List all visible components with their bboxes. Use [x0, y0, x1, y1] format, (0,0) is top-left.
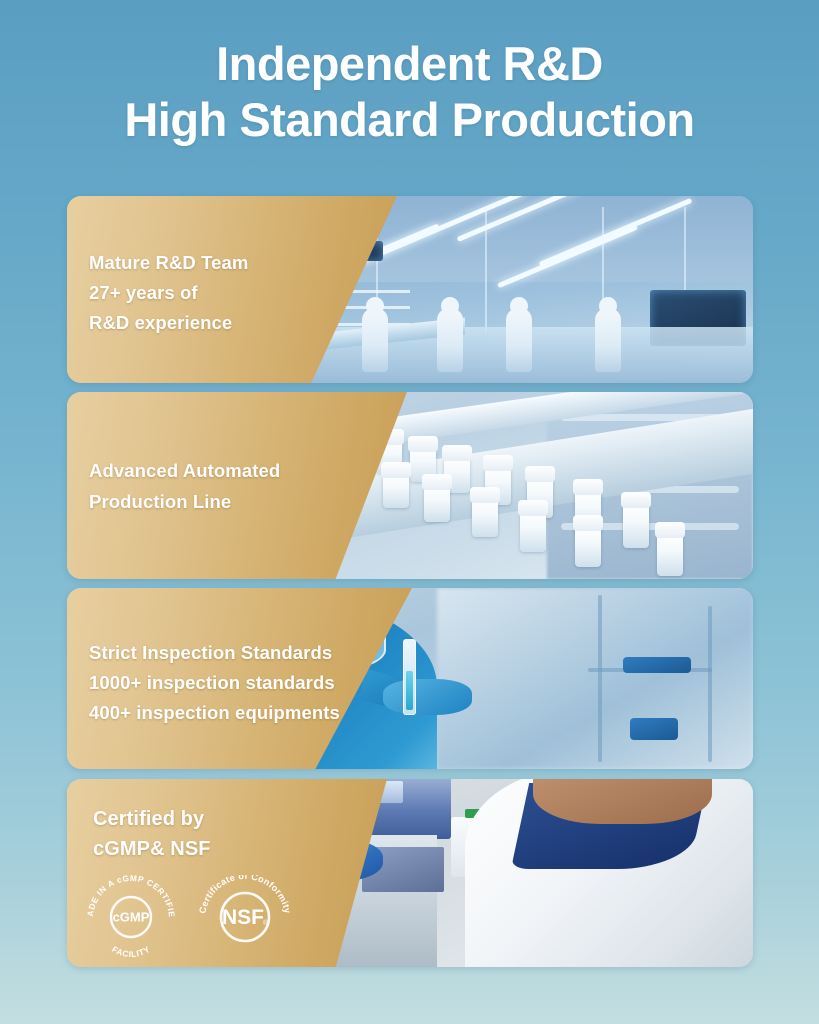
page-title-line-2: High Standard Production — [0, 92, 819, 148]
card3-line-1: Strict Inspection Standards — [89, 638, 340, 668]
card-text-automated-production-line: Advanced Automated Production Line — [89, 456, 280, 517]
card-text-strict-inspection-standards: Strict Inspection Standards 1000+ inspec… — [89, 638, 340, 728]
page-title: Independent R&D High Standard Production — [0, 36, 819, 148]
card1-line-2: 27+ years of — [89, 278, 248, 308]
card4-line-2: cGMP& NSF — [93, 834, 211, 864]
card2-line-1: Advanced Automated — [89, 456, 280, 487]
feature-card-automated-production-line[interactable]: Advanced Automated Production Line — [67, 392, 753, 579]
card3-line-3: 400+ inspection equipments — [89, 698, 340, 728]
feature-card-mature-rd-team[interactable]: Mature R&D Team 27+ years of R&D experie… — [67, 196, 753, 383]
feature-card-certified-by-cgmp-nsf[interactable]: Certified by cGMP& NSF MADE IN A cGMP CE… — [67, 779, 753, 967]
nsf-badge: Certificate of Conformity NSF ® — [191, 875, 299, 959]
cgmp-badge: MADE IN A cGMP CERTIFIED FACILITY cGMP — [77, 875, 185, 959]
card-text-mature-rd-team: Mature R&D Team 27+ years of R&D experie… — [89, 248, 248, 338]
card1-line-3: R&D experience — [89, 308, 248, 338]
svg-text:FACILITY: FACILITY — [110, 944, 152, 959]
nsf-center-text: NSF — [222, 906, 264, 929]
feature-card-strict-inspection-standards[interactable]: Strict Inspection Standards 1000+ inspec… — [67, 588, 753, 769]
page-title-line-1: Independent R&D — [0, 36, 819, 92]
nsf-registered-mark: ® — [263, 919, 269, 927]
card4-line-1: Certified by — [93, 804, 211, 834]
certification-badges: MADE IN A cGMP CERTIFIED FACILITY cGMP C… — [77, 875, 299, 959]
cgmp-center-text: cGMP — [113, 910, 150, 925]
card1-line-1: Mature R&D Team — [89, 248, 248, 278]
card-text-certified-by: Certified by cGMP& NSF — [93, 804, 211, 865]
card2-line-2: Production Line — [89, 487, 280, 518]
cgmp-arc-bottom-text: FACILITY — [110, 944, 152, 959]
card3-line-2: 1000+ inspection standards — [89, 668, 340, 698]
